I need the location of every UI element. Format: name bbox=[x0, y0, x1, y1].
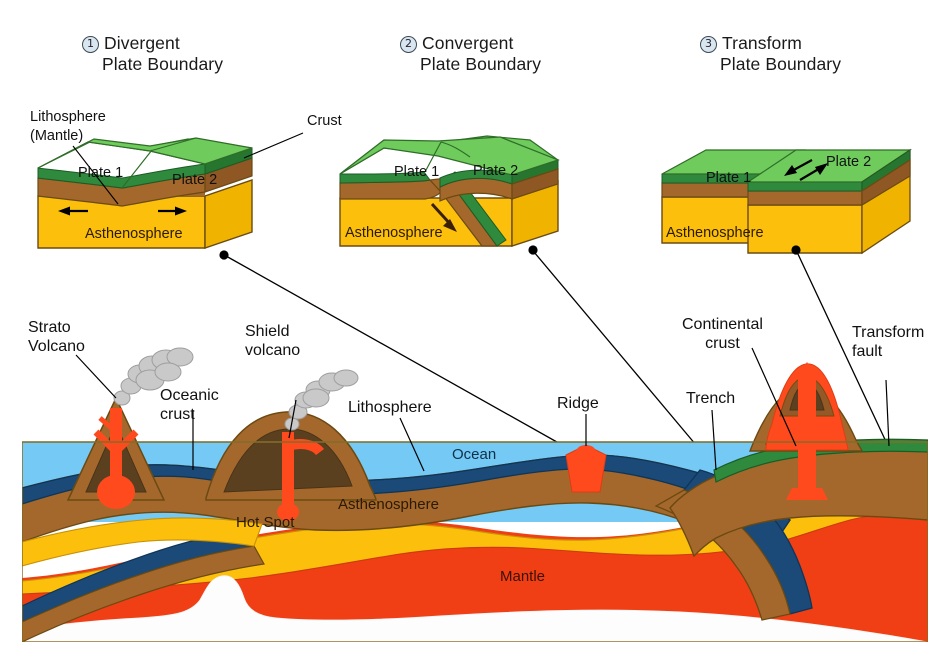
label-continental-line2: crust bbox=[682, 334, 763, 353]
label-mantle: Mantle bbox=[500, 568, 545, 585]
label-continental-line1: Continental bbox=[682, 316, 763, 333]
label-divergent-plate1: Plate 1 bbox=[78, 165, 123, 181]
mid-ocean-ridge bbox=[566, 445, 606, 492]
label-trench: Trench bbox=[686, 389, 735, 408]
label-convergent-asthenosphere: Asthenosphere bbox=[345, 225, 443, 241]
label-strato-line2: Volcano bbox=[28, 338, 85, 355]
label-lithosphere-text: Lithosphere bbox=[30, 109, 106, 125]
tectonics-diagram: 1Divergent Plate Boundary 2Convergent Pl… bbox=[0, 0, 950, 664]
label-convergent-plate2: Plate 2 bbox=[473, 163, 518, 179]
label-shield-line1: Shield bbox=[245, 323, 289, 340]
connector-dot-transform bbox=[791, 245, 800, 254]
connector-dot-convergent bbox=[528, 245, 537, 254]
label-ridge: Ridge bbox=[557, 394, 599, 413]
label-shield-line2: volcano bbox=[245, 342, 300, 359]
label-oceanic-crust: Oceanic crust bbox=[160, 386, 219, 424]
label-transform-plate1: Plate 1 bbox=[706, 170, 751, 186]
label-shield-volcano: Shield volcano bbox=[245, 322, 300, 360]
cross-section bbox=[22, 348, 928, 642]
connector-convergent bbox=[534, 252, 717, 470]
label-continental-crust: Continental crust bbox=[682, 315, 763, 353]
label-transform-fault: Transform fault bbox=[852, 323, 924, 361]
label-transform-plate2: Plate 2 bbox=[826, 154, 871, 170]
label-strato-line1: Strato bbox=[28, 319, 71, 336]
label-crust: Crust bbox=[307, 112, 342, 131]
diagram-artwork bbox=[0, 0, 950, 664]
label-lithosphere-cs: Lithosphere bbox=[348, 398, 432, 417]
label-strato-volcano: Strato Volcano bbox=[28, 318, 85, 356]
label-divergent-plate2: Plate 2 bbox=[172, 172, 217, 188]
label-lithosphere-mantle: Lithosphere (Mantle) bbox=[30, 108, 106, 146]
leader-transform-fault bbox=[886, 380, 889, 446]
label-convergent-plate1: Plate 1 bbox=[394, 164, 439, 180]
label-mantle-text: (Mantle) bbox=[30, 128, 83, 144]
label-ocean: Ocean bbox=[452, 446, 496, 463]
leader-strato-volcano bbox=[76, 355, 116, 398]
label-divergent-asthenosphere: Asthenosphere bbox=[85, 226, 183, 242]
label-transform-asthenosphere: Asthenosphere bbox=[666, 225, 764, 241]
label-transform-fault-line2: fault bbox=[852, 343, 882, 360]
label-hot-spot: Hot Spot bbox=[236, 514, 294, 531]
label-transform-fault-line1: Transform bbox=[852, 324, 924, 341]
connector-dot-divergent bbox=[219, 250, 228, 259]
label-oceanic-line1: Oceanic bbox=[160, 387, 219, 404]
label-oceanic-line2: crust bbox=[160, 406, 195, 423]
label-asthenosphere-cs: Asthenosphere bbox=[338, 496, 439, 513]
